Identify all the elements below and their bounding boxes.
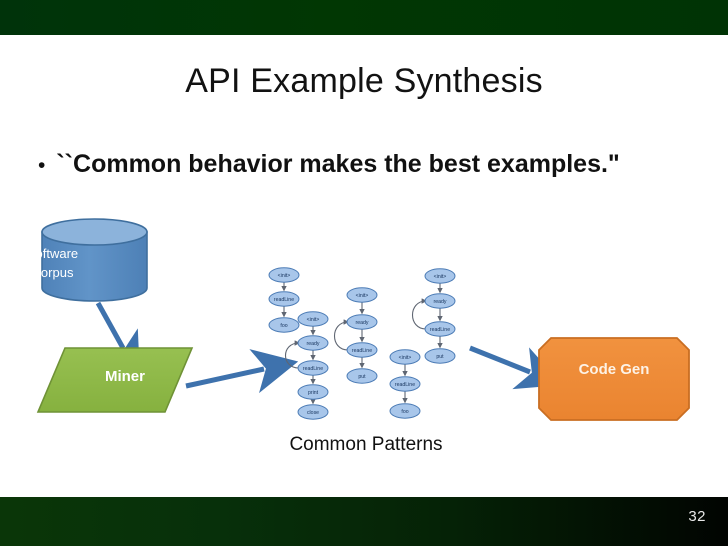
slide: API Example Synthesis • ``Common behavio…: [0, 0, 728, 546]
common-patterns-caption: Common Patterns: [250, 434, 482, 456]
arrow-corpus-to-miner: [98, 303, 123, 348]
graph-node-label: ready: [434, 299, 447, 305]
miner-shape: [38, 348, 192, 412]
arrow-patterns-to-codegen: [470, 348, 530, 372]
graph-node-label: close: [307, 410, 319, 416]
graph-pattern-1: <init>readLinefoo: [269, 268, 299, 332]
graph-node-label: ready: [307, 341, 320, 347]
graph-node-label: <init>: [399, 355, 412, 361]
slide-footer-bar: [0, 497, 728, 546]
slide-header-bar: [0, 0, 728, 35]
graph-node-label: foo: [280, 323, 287, 329]
arrow-miner-to-patterns: [186, 369, 264, 386]
graph-back-edge: [335, 322, 349, 350]
pipeline-diagram: <init>readLinefoo<init>readyreadLineprin…: [0, 200, 728, 500]
graph-node-label: readLine: [352, 348, 372, 354]
graph-node-label: foo: [401, 409, 408, 415]
graph-back-edge: [286, 343, 300, 368]
graph-node-label: put: [358, 374, 366, 380]
bullet-item: • ``Common behavior makes the best examp…: [38, 150, 708, 179]
graph-node-label: readLine: [274, 297, 294, 303]
bullet-text: ``Common behavior makes the best example…: [56, 150, 619, 179]
graph-node-label: <init>: [278, 273, 291, 279]
graph-node-label: readLine: [430, 327, 450, 333]
graph-node-label: <init>: [434, 274, 447, 280]
graph-node-label: readLine: [303, 366, 323, 372]
bullet-marker-icon: •: [38, 155, 45, 176]
graph-pattern-5: <init>readyreadLineput: [413, 269, 456, 363]
graph-pattern-3: <init>readyreadLineput: [335, 288, 378, 383]
code-gen-shape: [539, 338, 689, 420]
graph-node-label: readLine: [395, 382, 415, 388]
pattern-graphs: <init>readLinefoo<init>readyreadLineprin…: [269, 268, 455, 419]
graph-pattern-4: <init>readLinefoo: [390, 350, 420, 418]
page-title: API Example Synthesis: [0, 62, 728, 101]
graph-back-edge: [413, 301, 427, 329]
page-number: 32: [688, 508, 706, 525]
graph-node-label: <init>: [356, 293, 369, 299]
graph-node-label: ready: [356, 320, 369, 326]
graph-node-label: print: [308, 390, 319, 396]
graph-node-label: put: [436, 354, 444, 360]
graph-node-label: <init>: [307, 317, 320, 323]
software-corpus-box: [42, 218, 147, 302]
